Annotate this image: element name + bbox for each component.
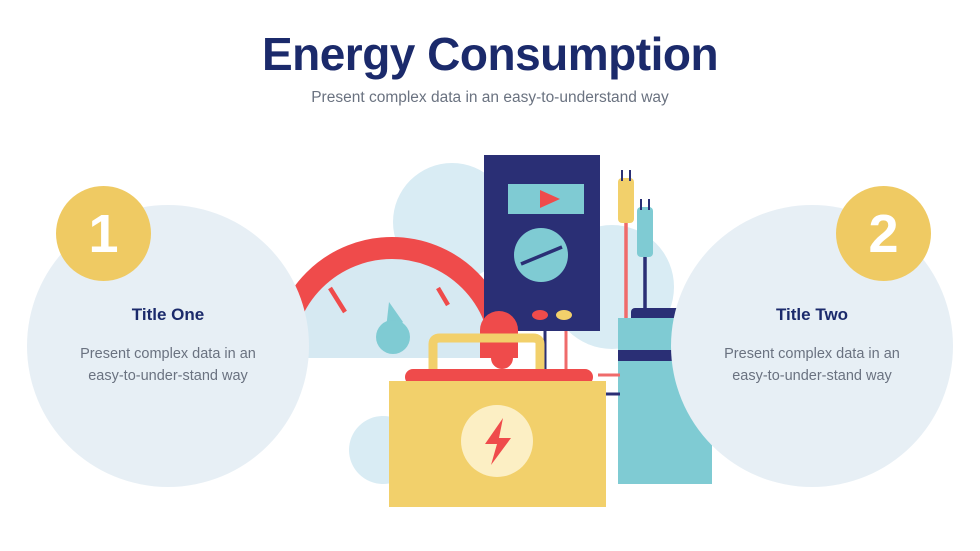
panel-one-heading: Title One xyxy=(27,305,309,325)
probe-teal-grip xyxy=(637,207,653,257)
slide-canvas: Energy Consumption Present complex data … xyxy=(0,0,980,551)
panel-two-heading: Title Two xyxy=(671,305,953,325)
header: Energy Consumption Present complex data … xyxy=(0,30,980,108)
probe-yellow-grip xyxy=(618,178,634,223)
multimeter-port-yellow xyxy=(556,310,572,320)
page-subtitle: Present complex data in an easy-to-under… xyxy=(0,88,980,108)
panel-one-text: Title One Present complex data in an eas… xyxy=(27,305,309,387)
multimeter-port-red xyxy=(532,310,548,320)
badge-number-one: 1 xyxy=(56,186,151,281)
page-title: Energy Consumption xyxy=(0,30,980,78)
panel-two-text: Title Two Present complex data in an eas… xyxy=(671,305,953,387)
panel-two-body: Present complex data in an easy-to-under… xyxy=(712,343,912,387)
gauge-needle-hub xyxy=(376,320,410,354)
panel-one-body: Present complex data in an easy-to-under… xyxy=(68,343,268,387)
badge-number-two: 2 xyxy=(836,186,931,281)
